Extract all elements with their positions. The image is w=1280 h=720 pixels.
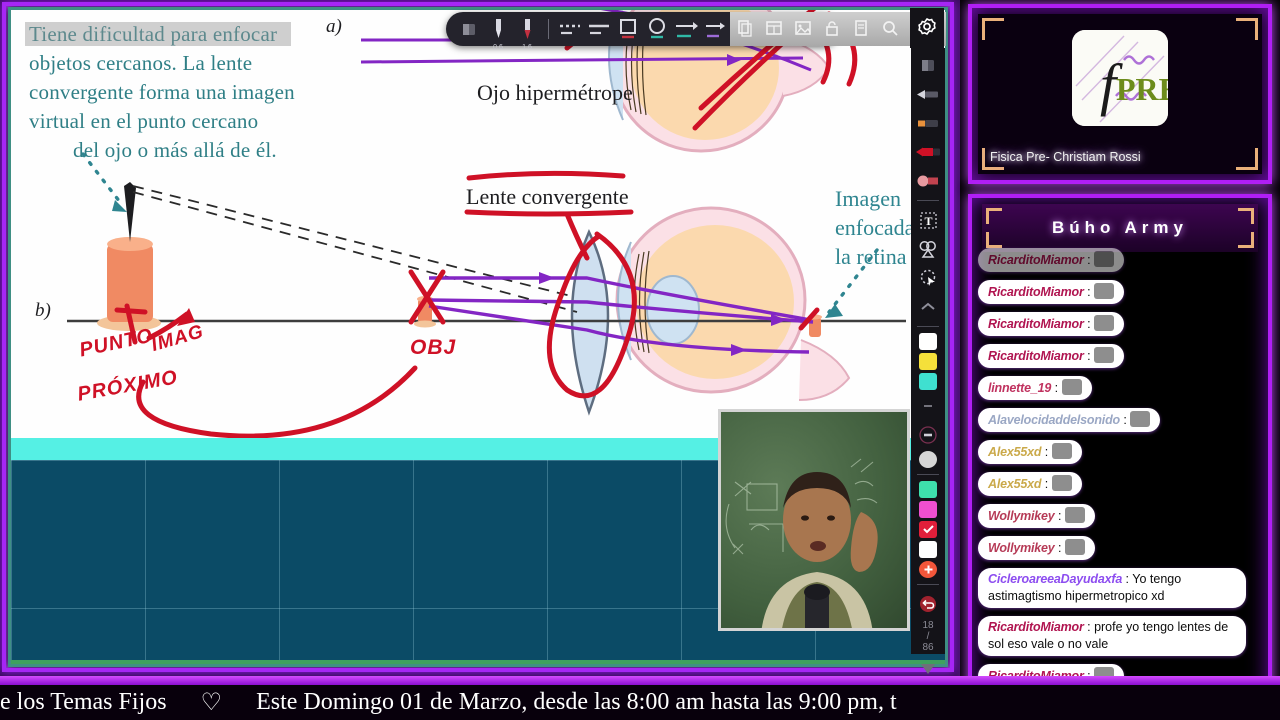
copy-icon[interactable] [736,19,756,39]
swatch-pink[interactable] [919,501,937,518]
chat-message: RicarditoMiamor : profe yo tengo lentes … [978,616,1262,664]
lock-icon[interactable] [823,19,843,39]
ellipse-tool[interactable] [644,16,670,42]
annotation-obj: OBJ [410,336,456,360]
ticker-accent-bar [0,676,1280,685]
channel-brand-card: f PRE Fisica Pre- Christiam Rossi [968,4,1272,184]
chat-corner-tl [986,208,1002,224]
chat-message-list[interactable]: RicarditoMiamor : RicarditoMiamor : Rica… [972,244,1268,704]
swatch-yellow[interactable] [919,353,937,370]
chat-bubble: Wollymikey : [978,504,1095,528]
chat-separator: : [1120,413,1130,427]
chat-separator: : [1055,541,1065,555]
chat-emote-icon [1052,475,1072,491]
chat-emote-icon [1065,539,1085,555]
chat-bubble: Alex55xd : [978,472,1082,496]
shapes-tool[interactable] [914,236,942,262]
chat-emote-icon [1094,283,1114,299]
par-line-5: del ojo o más allá de él. [29,136,329,165]
add-color-button[interactable] [919,561,937,578]
logo-pre: PRE [1116,71,1168,107]
chat-message: Alex55xd : [978,472,1262,504]
chat-username: Alex55xd [988,445,1041,459]
channel-name: Fisica Pre- Christiam Rossi [990,150,1141,164]
chat-username: linnette_19 [988,381,1051,395]
chat-username: RicarditoMiamor [988,253,1084,267]
chat-bubble: linnette_19 : [978,376,1092,400]
chat-username: Wollymikey [988,541,1055,555]
page-indicator[interactable]: 18 / 86 [922,620,933,653]
chat-bubble: RicarditoMiamor : profe yo tengo lentes … [978,616,1246,656]
pen-thick-label: 1.6 [522,44,532,51]
figure-label-b: b) [35,300,51,322]
channel-logo: f PRE [1072,30,1168,126]
chat-emote-icon [1062,379,1082,395]
eraser-tool[interactable] [456,16,482,42]
chat-message: Alex55xd : [978,440,1262,472]
chat-bubble: RicarditoMiamor : [978,344,1124,368]
chat-bubble: Alex55xd : [978,440,1082,464]
chat-separator: : [1084,285,1094,299]
chat-bubble: Wollymikey : [978,536,1095,560]
webcam-pip[interactable] [718,409,910,631]
chat-message: RicarditoMiamor : [978,248,1262,280]
arrow-short-tool[interactable] [702,16,728,42]
chat-username: Alex55xd [988,477,1041,491]
par-line-4: virtual en el punto cercano [29,107,329,136]
stroke-size-small[interactable] [914,393,942,419]
collapse-chevron-icon[interactable] [914,294,942,320]
chat-bubble: Alavelocidaddelsonido : [978,408,1160,432]
toolbar-divider [548,19,549,39]
selection-highlight [25,22,291,46]
chat-emote-icon [1094,315,1114,331]
chat-emote-icon [1065,507,1085,523]
side-divider-4 [917,584,939,585]
chat-message: CicleroareeaDayudaxfa : Yo tengo astimag… [978,568,1262,616]
side-divider-3 [917,474,939,475]
swatch-cyan[interactable] [919,373,937,390]
chat-separator: : [1122,572,1132,586]
chat-separator: : [1041,445,1051,459]
corner-bottom-right [1236,148,1258,170]
svg-text:T: T [924,214,932,228]
par-line-2: objetos cercanos. La lente [29,49,329,78]
pen-tool[interactable] [914,81,942,107]
chat-username: RicarditoMiamor [988,317,1084,331]
chat-title-text: Búho Army [1052,218,1188,238]
chat-username: Alavelocidaddelsonido [988,413,1120,427]
table-icon[interactable] [765,19,785,39]
page-current: 18 [922,620,933,631]
lasso-tool[interactable] [914,265,942,291]
document-icon[interactable] [852,19,872,39]
chat-panel[interactable]: Búho Army RicarditoMiamor : RicarditoMia… [968,194,1272,712]
chat-separator: : [1084,253,1094,267]
ticker-segment-2: Este Domingo 01 de Marzo, desde las 8:00… [256,689,897,716]
highlighter-tool[interactable] [914,168,942,194]
swatch-white-2[interactable] [919,541,937,558]
chat-bubble: RicarditoMiamor : [978,312,1124,336]
chat-bubble: RicarditoMiamor : [978,280,1124,304]
chat-username: CicleroareeaDayudaxfa [988,572,1122,586]
chat-emote-icon [1130,411,1150,427]
chat-emote-icon [1094,347,1114,363]
chat-message: Wollymikey : [978,536,1262,568]
chat-emote-icon [1094,251,1114,267]
whiteboard-canvas[interactable]: Tiene dificultad para enfocar objetos ce… [11,10,948,442]
chat-username: RicarditoMiamor [988,620,1084,634]
chat-bubble: CicleroareeaDayudaxfa : Yo tengo astimag… [978,568,1246,608]
chat-separator: : [1084,620,1094,634]
label-lente-convergente: Lente convergente [466,184,629,210]
chat-separator: : [1084,317,1094,331]
pen-thick-tool[interactable]: 1.6 [514,16,540,42]
side-divider-1 [917,200,939,201]
chat-message: Wollymikey : [978,504,1262,536]
chat-message: Alavelocidaddelsonido : [978,408,1262,440]
page-divider: / [927,631,930,642]
chat-message: RicarditoMiamor : [978,344,1262,376]
swatch-red-selected[interactable] [919,521,937,538]
whiteboard-stage: Tiene dificultad para enfocar objetos ce… [0,0,960,676]
chat-separator: : [1084,349,1094,363]
solid-line-tool[interactable] [586,16,612,42]
side-divider-2 [917,326,939,327]
ticker-heart-icon: ♡ [201,688,223,717]
green-footer-strip [11,660,948,666]
corner-top-right [1236,18,1258,40]
chat-separator: : [1051,381,1061,395]
bottom-ticker: e los Temas Fijos ♡ Este Domingo 01 de M… [0,676,1280,720]
chat-separator: : [1041,477,1051,491]
chat-separator: : [1055,509,1065,523]
side-toolbar[interactable]: T [911,48,945,654]
chat-username: Wollymikey [988,509,1055,523]
corner-top-left [982,18,1004,40]
swatch-white[interactable] [919,333,937,350]
ticker-text-row: e los Temas Fijos ♡ Este Domingo 01 de M… [0,685,1280,720]
page-total: 86 [922,642,933,653]
chat-message: linnette_19 : [978,376,1262,408]
label-ojo-hipermetrope: Ojo hipermétrope [477,80,633,106]
eye-with-lens-bottom [617,208,849,400]
ticker-segment-1: e los Temas Fijos [0,689,167,716]
pen-thin-tool[interactable]: 0.6 [485,16,511,42]
select-tool[interactable] [914,52,942,78]
chat-message: RicarditoMiamor : [978,312,1262,344]
right-panel: f PRE Fisica Pre- Christiam Rossi Búho A… [960,0,1280,720]
chat-username: RicarditoMiamor [988,285,1084,299]
chat-corner-tr [1238,208,1254,224]
image-icon[interactable] [794,19,814,39]
search-icon[interactable] [881,19,901,39]
text-tool[interactable]: T [914,207,942,233]
swatch-grey[interactable] [919,451,937,468]
figure-label-a: a) [326,16,342,38]
marker-orange-tool[interactable] [914,110,942,136]
settings-button[interactable] [910,8,944,48]
stroke-size-medium[interactable] [914,422,942,448]
chat-bubble: RicarditoMiamor : [978,248,1124,272]
marker-red-tool[interactable] [914,139,942,165]
pen-thin-label: 0.6 [493,44,503,51]
stream-screen: Tiene dificultad para enfocar objetos ce… [0,0,1280,720]
instructor-figure [761,472,878,631]
rectangle-tool[interactable] [615,16,641,42]
undo-icon[interactable] [914,591,942,617]
dotted-line-tool[interactable] [557,16,583,42]
chat-username: RicarditoMiamor [988,349,1084,363]
arrow-tool[interactable] [673,16,699,42]
par-line-3: convergente forma una imagen [29,78,329,107]
chat-message: RicarditoMiamor : [978,280,1262,312]
swatch-green[interactable] [919,481,937,498]
chat-emote-icon [1052,443,1072,459]
brand-inner: f PRE Fisica Pre- Christiam Rossi [978,14,1262,174]
